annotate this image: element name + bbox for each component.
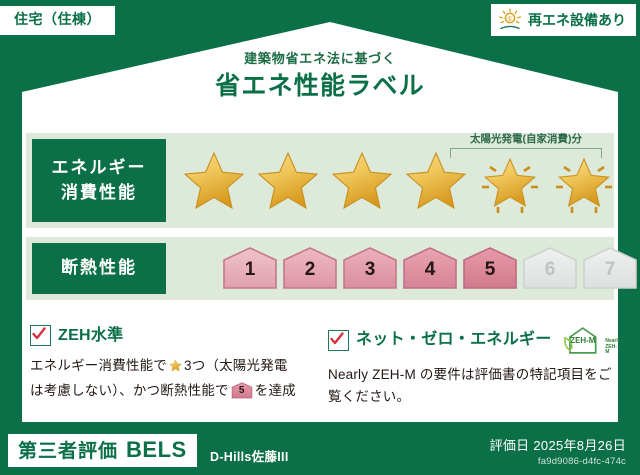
energy-label-line2: 消費性能	[52, 181, 147, 206]
insulation-grade-6-number: 6	[522, 260, 578, 279]
bels-en-label: BELS	[126, 439, 187, 461]
sun-solar-icon: E	[497, 8, 523, 32]
footer-evaluation-info: 評価日 2025年8月26日 fa9d9086-d4fc-474c	[490, 438, 626, 467]
insulation-performance-label: 断熱性能	[32, 243, 166, 294]
criterion-zeh-text-4: を達成	[255, 383, 296, 398]
inline-grade5-badge-icon: 5	[231, 382, 253, 399]
energy-performance-label: エネルギー 消費性能	[32, 139, 166, 222]
star-solar-5	[474, 145, 546, 217]
check-icon-zeh	[30, 325, 51, 346]
category-tag-label: 住宅（住棟）	[14, 11, 101, 27]
inline-star-icon	[168, 361, 183, 376]
criterion-zeh-standard: ZEH水準 エネルギー消費性能で 3つ（太陽光発電は考慮しない）、かつ断熱性能で…	[30, 325, 320, 403]
insulation-grade-3-number: 3	[342, 260, 398, 279]
svg-text:ZEH-M: ZEH-M	[570, 336, 595, 345]
criterion-zeh-text-1: エネルギー消費性能で	[30, 358, 167, 373]
heading-title: 省エネ性能ラベル	[0, 73, 640, 101]
criterion-zeh-text-3: は考慮しない）、かつ断熱性能で	[30, 383, 229, 398]
inline-grade5-number: 5	[231, 386, 253, 396]
bels-jp-label: 第三者評価	[18, 442, 118, 461]
bels-certification-mark: 第三者評価 BELS	[8, 434, 197, 467]
insulation-grade-scale: 1 2 3	[222, 243, 638, 294]
insulation-grade-4: 4	[402, 246, 458, 291]
building-name: D-Hills佐藤III	[210, 451, 289, 464]
criterion-zeh-title: ZEH水準	[58, 328, 124, 344]
insulation-grade-7-number: 7	[582, 260, 638, 279]
insulation-grade-6: 6	[522, 246, 578, 291]
renewable-equipment-badge: E 再エネ設備あり	[491, 4, 636, 36]
category-tag: 住宅（住棟）	[0, 6, 115, 35]
energy-performance-row: エネルギー 消費性能	[26, 133, 614, 228]
svg-text:E: E	[508, 16, 512, 22]
energy-star-rating	[178, 133, 620, 228]
insulation-performance-row: 断熱性能 1 2	[26, 237, 614, 300]
criterion-net-zero-energy: ネット・ゼロ・エネルギー ZEH-M Nearly ZEH-M Nearly Z…	[328, 325, 620, 409]
insulation-grade-1-number: 1	[222, 260, 278, 279]
criterion-nze-header: ネット・ゼロ・エネルギー ZEH-M Nearly ZEH-M	[328, 325, 620, 355]
insulation-grade-2-number: 2	[282, 260, 338, 279]
star-solar-6	[548, 145, 620, 217]
criterion-nze-body: Nearly ZEH-M の要件は評価書の特記項目をご覧ください。	[328, 364, 620, 409]
energy-label-line1: エネルギー	[52, 156, 147, 181]
insulation-grade-5: 5	[462, 246, 518, 291]
insulation-grade-2: 2	[282, 246, 338, 291]
bels-energy-label: 住宅（住棟） E 再エネ設備あり 建築物省エネ法に基づく	[0, 0, 640, 475]
star-filled-2	[252, 145, 324, 217]
star-filled-1	[178, 145, 250, 217]
evaluation-date: 評価日 2025年8月26日	[490, 438, 626, 454]
evaluation-id: fa9d9086-d4fc-474c	[490, 456, 626, 467]
criterion-nze-title: ネット・ゼロ・エネルギー	[356, 332, 552, 348]
criterion-zeh-header: ZEH水準	[30, 325, 320, 346]
label-heading: 建築物省エネ法に基づく 省エネ性能ラベル	[0, 52, 640, 101]
insulation-grade-3: 3	[342, 246, 398, 291]
renewable-badge-label: 再エネ設備あり	[528, 13, 626, 27]
star-filled-4	[400, 145, 472, 217]
criterion-zeh-text-2: 3つ（太陽光発電	[184, 358, 288, 373]
insulation-grade-4-number: 4	[402, 260, 458, 279]
zeh-m-logo-sub-2: ZEH-M	[605, 345, 621, 356]
criterion-zeh-body: エネルギー消費性能で 3つ（太陽光発電は考慮しない）、かつ断熱性能で 5を達成	[30, 355, 320, 403]
heading-subtitle: 建築物省エネ法に基づく	[0, 52, 640, 66]
check-icon-net-zero	[328, 330, 349, 351]
insulation-grade-1: 1	[222, 246, 278, 291]
star-filled-3	[326, 145, 398, 217]
insulation-grade-7: 7	[582, 246, 638, 291]
zeh-m-logo: ZEH-M Nearly ZEH-M	[561, 325, 621, 355]
insulation-grade-5-number: 5	[462, 260, 518, 279]
